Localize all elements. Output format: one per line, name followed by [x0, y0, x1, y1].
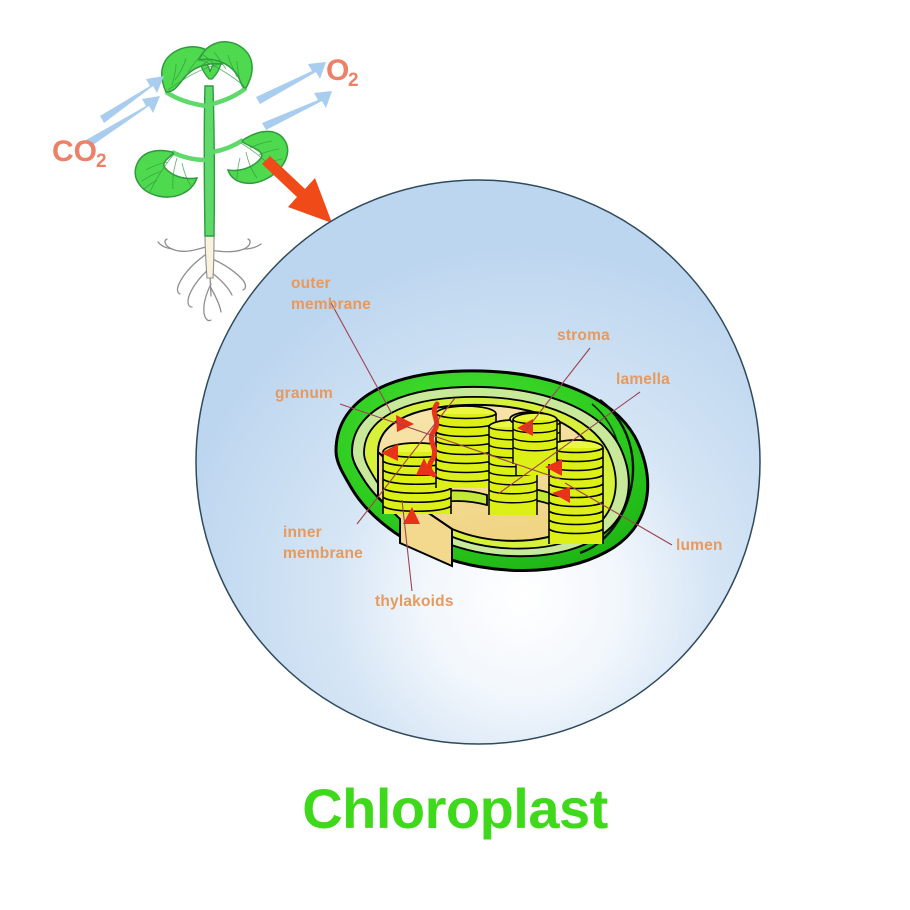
label-outer-membrane-line2: membrane [291, 296, 371, 313]
o2-arrow-group [256, 62, 332, 130]
branch-stem-lower-right [213, 140, 243, 152]
label-thylakoids: thylakoids [375, 593, 454, 610]
label-stroma: stroma [557, 327, 610, 344]
co2-subscript: 2 [96, 151, 107, 172]
label-outer-membrane-line1: outer [291, 275, 331, 292]
label-lamella: lamella [616, 371, 670, 388]
o2-subscript: 2 [348, 70, 359, 91]
o2-label: O [326, 54, 349, 87]
label-lumen: lumen [676, 537, 723, 554]
figure-title: Chloroplast [302, 777, 608, 840]
co2-label: CO [52, 135, 97, 168]
co2-arrow-group [86, 76, 164, 147]
root-crown [205, 234, 214, 278]
branch-stem-upper-right [212, 88, 246, 104]
label-granum: granum [275, 385, 333, 402]
label-inner-membrane-line1: inner [283, 524, 322, 541]
chloroplast-diagram: CO 2 O 2 [0, 0, 910, 910]
branch-stem-upper-left [166, 92, 206, 106]
plant-to-cell-arrow [262, 156, 332, 223]
label-inner-membrane-line2: membrane [283, 545, 363, 562]
diagram-canvas: CO 2 O 2 [0, 0, 910, 910]
